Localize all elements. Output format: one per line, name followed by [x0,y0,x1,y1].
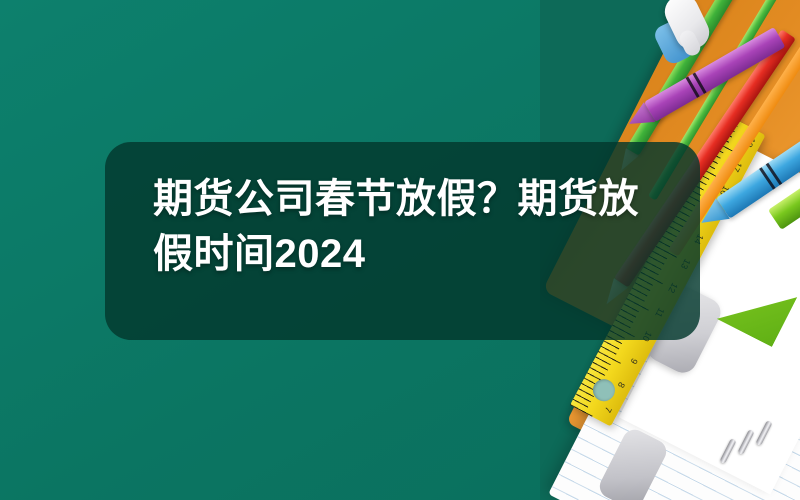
page-title: 期货公司春节放假？期货放假时间2024 [153,172,673,282]
screenshot-canvas: 7 8 9 10 11 12 13 14 15 16 17 18 [0,0,800,500]
